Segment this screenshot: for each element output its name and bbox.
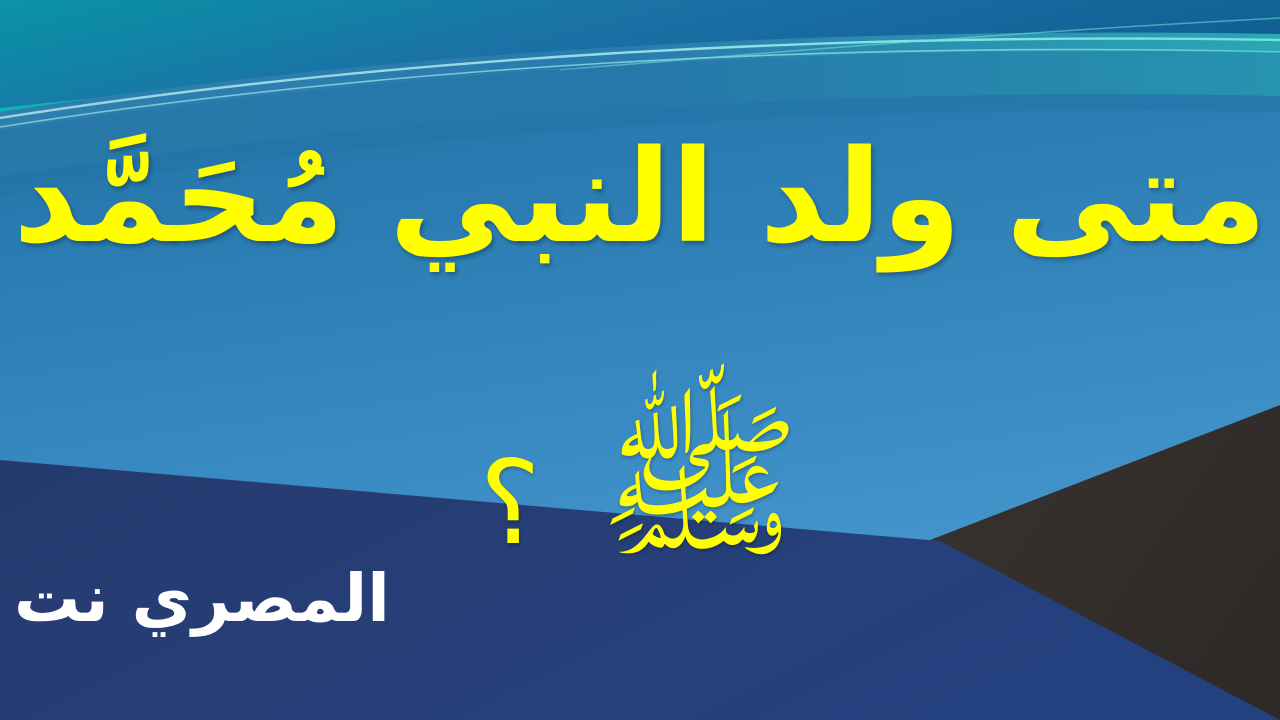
page-title: متى ولد النبي مُحَمَّد — [0, 118, 1280, 278]
salawat-calligraphy-icon: ﷺ — [598, 398, 801, 566]
brand-watermark: المصري نت — [14, 566, 390, 632]
honorific-row: ﷺ ؟ — [0, 398, 1280, 566]
slide-canvas: متى ولد النبي مُحَمَّد ﷺ ؟ المصري نت — [0, 0, 1280, 720]
question-mark: ؟ — [479, 446, 541, 562]
